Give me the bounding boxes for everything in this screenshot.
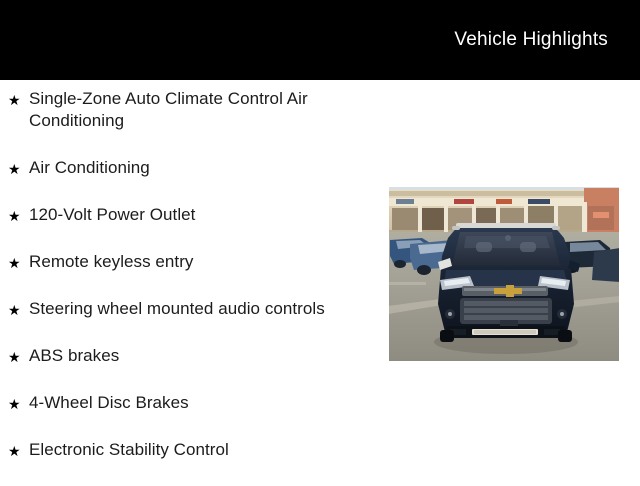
star-bullet-icon: ★ — [8, 392, 29, 415]
highlight-item-label: Air Conditioning — [29, 157, 380, 179]
highlight-item: ★Electronic Stability Control — [0, 439, 380, 486]
highlight-item-label: ABS brakes — [29, 345, 380, 367]
highlight-item: ★ABS brakes — [0, 345, 380, 392]
highlight-item: ★Air Conditioning — [0, 157, 380, 204]
vehicle-photo-image — [388, 186, 620, 362]
highlight-item: ★Steering wheel mounted audio controls — [0, 298, 380, 345]
highlight-item: ★4-Wheel Disc Brakes — [0, 392, 380, 439]
highlight-item-label: Steering wheel mounted audio controls — [29, 298, 380, 320]
page-title: Vehicle Highlights — [454, 28, 608, 52]
vehicle-highlights-list: ★Single-Zone Auto Climate Control Air Co… — [0, 88, 380, 486]
highlight-item: ★Remote keyless entry — [0, 251, 380, 298]
star-bullet-icon: ★ — [8, 439, 29, 462]
highlight-item-label: Single-Zone Auto Climate Control Air Con… — [29, 88, 380, 132]
star-bullet-icon: ★ — [8, 204, 29, 227]
highlight-item-label: Remote keyless entry — [29, 251, 380, 273]
page-header: Vehicle Highlights — [0, 0, 640, 80]
vehicle-photo[interactable] — [388, 186, 620, 362]
main-content: ★Single-Zone Auto Climate Control Air Co… — [0, 80, 640, 480]
star-bullet-icon: ★ — [8, 251, 29, 274]
highlight-item-label: 120-Volt Power Outlet — [29, 204, 380, 226]
highlight-item: ★120-Volt Power Outlet — [0, 204, 380, 251]
highlight-item-label: Electronic Stability Control — [29, 439, 380, 461]
star-bullet-icon: ★ — [8, 157, 29, 180]
star-bullet-icon: ★ — [8, 298, 29, 321]
star-bullet-icon: ★ — [8, 345, 29, 368]
highlight-item-label: 4-Wheel Disc Brakes — [29, 392, 380, 414]
star-bullet-icon: ★ — [8, 88, 29, 111]
highlight-item: ★Single-Zone Auto Climate Control Air Co… — [0, 88, 380, 157]
